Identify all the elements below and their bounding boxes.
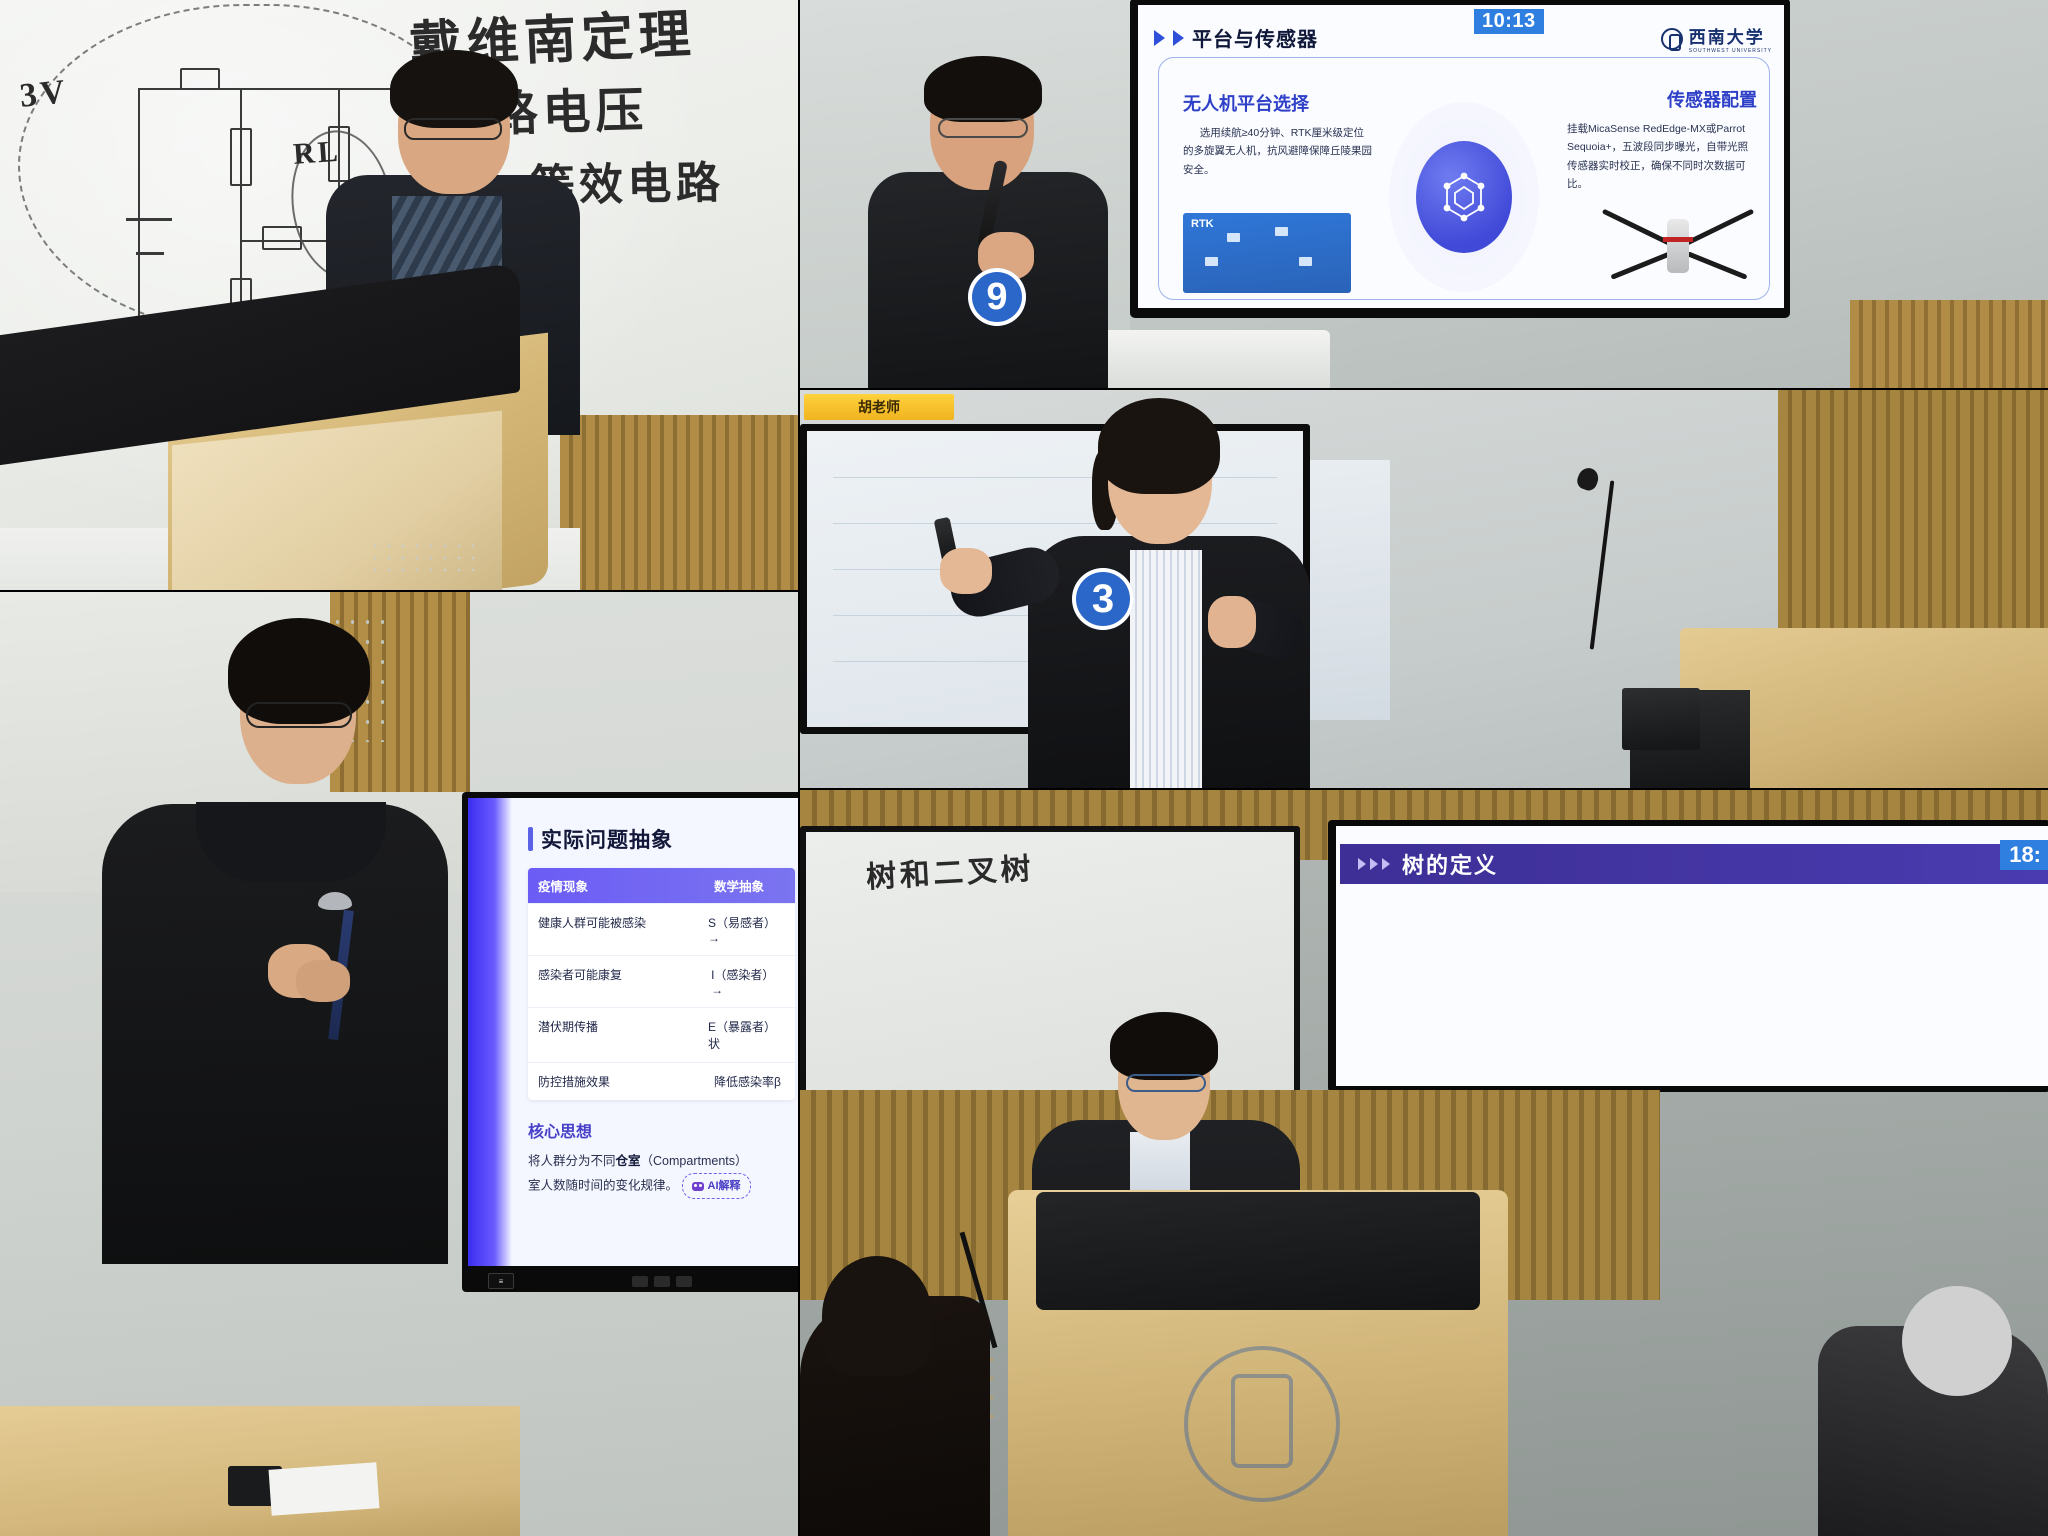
wood-wall-panel [560,415,798,590]
university-name: 西南大学 [1689,28,1765,48]
sensor-config-heading: 传感器配置 [1567,86,1757,112]
screen-control-buttons[interactable] [632,1276,692,1287]
uav-platform-column: 无人机平台选择 选用续航≥40分钟、RTK厘米级定位的多旋翼无人机，抗风避障保障… [1183,90,1373,179]
podium-university-seal [1184,1346,1340,1502]
cell-abstraction: S（易感者）→ [698,904,795,955]
table-row: 潜伏期传播 E（暴露者）状 [528,1007,795,1062]
screen-button[interactable] [632,1276,648,1287]
handwriting-rl-label: RL [292,135,342,172]
ai-explain-label: AI解释 [708,1176,741,1196]
slide-uav: 平台与传感器 10:13 西南大学 SOUTHWEST UNIVERSITY 无… [1138,5,1784,308]
presenter-hair [1110,1012,1218,1080]
screen-brand-badge: ≡ [488,1273,514,1289]
core-text-part3: 室人数随时间的变化规律。 [528,1179,678,1193]
cell-phenomenon: 健康人群可能被感染 [528,904,698,955]
cell-abstraction: 降低感染率β [704,1063,791,1100]
table-header-row: 疫情现象 数学抽象 [528,868,795,903]
teacher-hand-right [1208,596,1256,648]
core-text-part2: （Compartments） [641,1154,748,1168]
panel-divider-horizontal-right-1 [800,388,2048,390]
uav-platform-heading: 无人机平台选择 [1183,90,1373,116]
network-node-icon [1416,141,1512,253]
equipment-box [1622,688,1700,750]
panel-divider-horizontal-right-2 [800,788,2048,790]
slide-content-card: 无人机平台选择 选用续航≥40分钟、RTK厘米级定位的多旋翼无人机，抗风避障保障… [1158,57,1770,300]
sensor-config-column: 传感器配置 挂载MicaSense RedEdge-MX或Parrot Sequ… [1567,86,1757,194]
teacher-shirt [1130,550,1202,790]
panel-epidemic-model-presentation[interactable]: 实际问题抽象 疫情现象 数学抽象 健康人群可能被感染 S（易感者）→ 感染者可能… [0,592,798,1536]
panel-divider-vertical [798,0,800,1536]
table-row: 感染者可能康复 I（感染者）→ [528,955,795,1007]
university-name-en: SOUTHWEST UNIVERSITY [1689,48,1772,54]
ai-explain-button[interactable]: AI解释 [682,1173,751,1199]
audience-head-left [822,1256,932,1376]
panel-circuit-lecture[interactable]: 3V RL 戴维南定理 开路电压 等效电路 [0,0,798,590]
display-screen[interactable]: 树的定义 18: [1328,820,2048,1092]
panel-divider-horizontal-left [0,590,798,592]
display-screen[interactable]: 平台与传感器 10:13 西南大学 SOUTHWEST UNIVERSITY 无… [1130,0,1790,318]
wall-perforation-dots [368,540,478,580]
participant-number-badge: 3 [1072,568,1134,630]
core-idea-section: 核心思想 将人群分为不同仓室（Compartments） 室人数随时间的变化规律… [528,1118,793,1199]
sensor-config-body: 挂载MicaSense RedEdge-MX或Parrot Sequoia+，五… [1567,120,1757,194]
slide-header-bar: 树的定义 [1340,844,2048,884]
screen-edge-glow [468,798,512,1266]
podium-monitor [1036,1192,1480,1310]
wood-wall-panel [1850,300,2048,390]
rtk-diagram: RTK [1183,213,1351,293]
drone-illustration [1605,211,1755,297]
rtk-label: RTK [1191,218,1214,230]
student-hood [196,802,386,882]
teacher-hand-left [940,548,992,594]
audience-head-right [1902,1286,2012,1396]
lecturer-glasses [404,118,502,140]
table-row: 健康人群可能被感染 S（易感者）→ [528,903,795,955]
play-triangle-icon [1173,30,1184,46]
center-graphic [1389,102,1539,292]
presenter-hair [924,56,1042,122]
panel-teacher-presenting[interactable]: 胡老师 3 [800,390,2048,790]
display-screen[interactable]: 实际问题抽象 疫情现象 数学抽象 健康人群可能被感染 S（易感者）→ 感染者可能… [462,792,798,1292]
play-triangle-icon [1154,30,1165,46]
university-logo: 西南大学 SOUTHWEST UNIVERSITY [1661,23,1772,54]
student-glasses [246,702,352,728]
handwriting-voltage-label: 3V [18,73,70,116]
slide-title: 实际问题抽象 [541,824,673,854]
table-header-abstraction: 数学抽象 [704,868,774,903]
slide-title: 平台与传感器 [1192,23,1318,52]
slide-title: 树的定义 [1402,848,1498,880]
participant-number-badge: 9 [968,268,1026,326]
core-text-part1: 将人群分为不同 [528,1154,616,1168]
cell-phenomenon: 感染者可能康复 [528,956,701,1007]
desk-paper [269,1462,380,1515]
screen-button[interactable] [676,1276,692,1287]
presenter-glasses [1126,1074,1206,1092]
cell-phenomenon: 潜伏期传播 [528,1008,698,1062]
teacher-hair [1098,398,1220,494]
slide-epidemic: 实际问题抽象 疫情现象 数学抽象 健康人群可能被感染 S（易感者）→ 感染者可能… [520,798,798,1266]
clock-badge: 10:13 [1474,9,1544,34]
hoodie-logo [318,892,352,910]
slide-title-row: 实际问题抽象 [528,824,798,854]
clock-badge: 18: [2000,840,2048,870]
student-hand-right [296,960,350,1002]
title-accent-bar [528,827,533,851]
teacher-name-tag: 胡老师 [804,394,954,420]
table-row: 防控措施效果 降低感染率β [528,1062,795,1100]
university-seal-icon [1661,28,1683,50]
screen-button[interactable] [654,1276,670,1287]
ai-robot-icon [692,1182,704,1191]
abstraction-table: 疫情现象 数学抽象 健康人群可能被感染 S（易感者）→ 感染者可能康复 I（感染… [528,868,795,1100]
play-triangles-icon [1358,858,1390,870]
slide-header: 平台与传感器 [1154,23,1318,52]
lecturer-hair [390,50,518,128]
presenter-glasses [938,118,1028,138]
panel-data-structure-lecture[interactable]: 树和二叉树 树的定义 18: 4 [800,790,2048,1536]
table-header-phenomenon: 疫情现象 [528,868,704,903]
video-grid: 3V RL 戴维南定理 开路电压 等效电路 [0,0,2048,1536]
core-idea-heading: 核心思想 [528,1118,793,1142]
cell-abstraction: I（感染者）→ [701,956,795,1007]
whiteboard-handwriting: 树和二叉树 [865,844,1035,897]
core-text-bold: 仓室 [616,1154,641,1168]
panel-uav-presentation[interactable]: 平台与传感器 10:13 西南大学 SOUTHWEST UNIVERSITY 无… [800,0,2048,390]
cell-abstraction: E（暴露者）状 [698,1008,795,1062]
uav-platform-body: 选用续航≥40分钟、RTK厘米级定位的多旋翼无人机，抗风避障保障丘陵果园安全。 [1183,124,1373,179]
cell-phenomenon: 防控措施效果 [528,1063,704,1100]
